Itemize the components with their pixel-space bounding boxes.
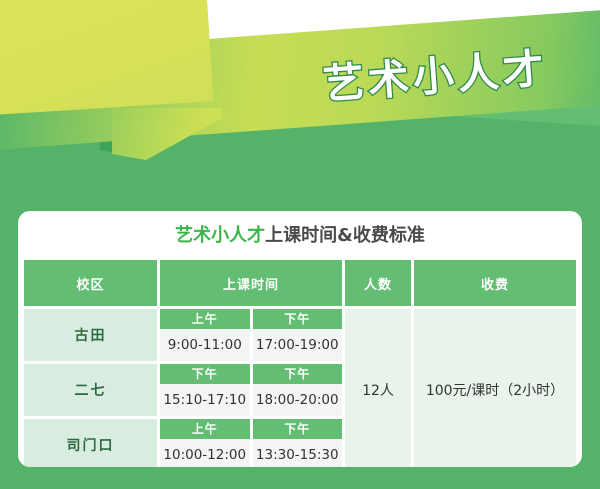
slot-period: 上午 bbox=[160, 309, 250, 329]
card-title: 艺术小人才上课时间&收费标准 bbox=[18, 211, 582, 257]
slot-time: 9:00-11:00 bbox=[160, 329, 250, 361]
cell-headcount: 12人 bbox=[345, 309, 411, 467]
cell-class-time: 上午 9:00-11:00 下午 17:00-19:00 bbox=[160, 309, 342, 361]
slot-period: 下午 bbox=[253, 309, 343, 329]
slot-pair: 上午 9:00-11:00 下午 17:00-19:00 bbox=[160, 309, 342, 361]
banner-title: 艺术小人才 bbox=[321, 34, 550, 110]
cell-class-time: 上午 10:00-12:00 下午 13:30-15:30 bbox=[160, 419, 342, 467]
table-row: 古田 上午 9:00-11:00 下午 17:00-19:00 bbox=[24, 309, 576, 361]
slot-morning: 上午 10:00-12:00 bbox=[160, 419, 250, 467]
slot-time: 17:00-19:00 bbox=[253, 329, 343, 361]
cell-campus: 二七 bbox=[24, 364, 157, 416]
header-campus: 校区 bbox=[24, 260, 157, 306]
slot-period: 上午 bbox=[160, 419, 250, 439]
header-fee: 收费 bbox=[414, 260, 576, 306]
cell-class-time: 下午 15:10-17:10 下午 18:00-20:00 bbox=[160, 364, 342, 416]
card-title-brand: 艺术小人才 bbox=[175, 225, 265, 246]
slot-time: 13:30-15:30 bbox=[253, 439, 343, 467]
slot-second: 下午 18:00-20:00 bbox=[253, 364, 343, 416]
slot-period: 下午 bbox=[253, 364, 343, 384]
slot-time: 18:00-20:00 bbox=[253, 384, 343, 416]
slot-pair: 下午 15:10-17:10 下午 18:00-20:00 bbox=[160, 364, 342, 416]
slot-period: 下午 bbox=[253, 419, 343, 439]
header-class-time: 上课时间 bbox=[160, 260, 342, 306]
slot-period: 下午 bbox=[160, 364, 250, 384]
header-headcount: 人数 bbox=[345, 260, 411, 306]
slot-pair: 上午 10:00-12:00 下午 13:30-15:30 bbox=[160, 419, 342, 467]
table-header-row: 校区 上课时间 人数 收费 bbox=[24, 260, 576, 306]
card-title-rest: 上课时间&收费标准 bbox=[265, 225, 425, 246]
ribbon-tab bbox=[0, 0, 213, 115]
cell-campus: 司门口 bbox=[24, 419, 157, 467]
slot-morning: 上午 9:00-11:00 bbox=[160, 309, 250, 361]
poster-root: 艺术小人才 寒假班 艺术小人才上课时间&收费标准 校区 上课时间 人数 bbox=[0, 0, 600, 489]
slot-afternoon: 下午 13:30-15:30 bbox=[253, 419, 343, 467]
slot-first: 下午 15:10-17:10 bbox=[160, 364, 250, 416]
cell-campus: 古田 bbox=[24, 309, 157, 361]
schedule-table: 校区 上课时间 人数 收费 古田 上午 9:00-11:00 bbox=[21, 257, 579, 467]
schedule-card: 艺术小人才上课时间&收费标准 校区 上课时间 人数 收费 古田 bbox=[18, 211, 582, 467]
slot-afternoon: 下午 17:00-19:00 bbox=[253, 309, 343, 361]
cell-fee: 100元/课时（2小时） bbox=[414, 309, 576, 467]
slot-time: 15:10-17:10 bbox=[160, 384, 250, 416]
slot-time: 10:00-12:00 bbox=[160, 439, 250, 467]
